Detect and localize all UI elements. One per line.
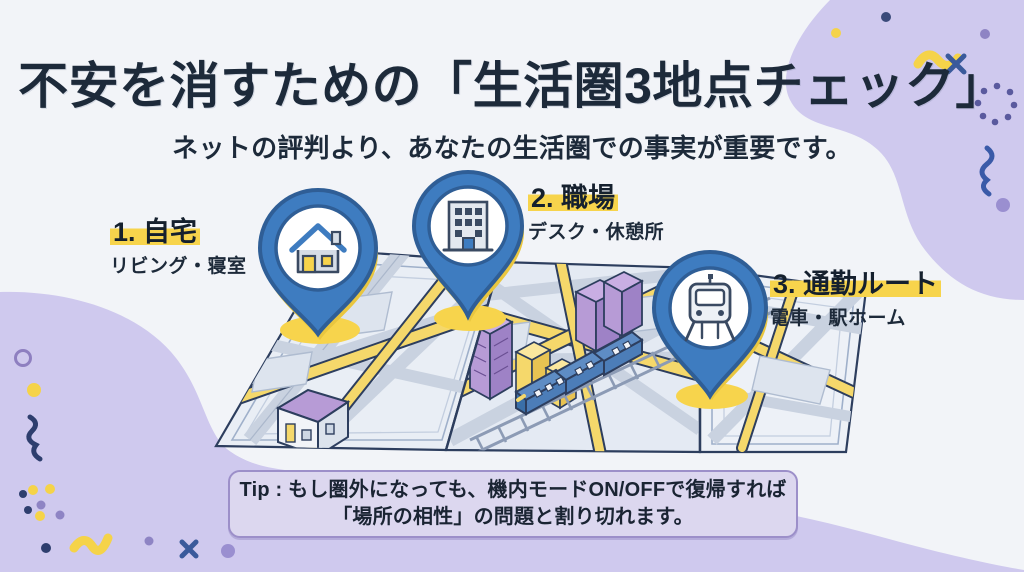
map-pin-commute[interactable] xyxy=(654,252,768,409)
marker-label-commute: 3. 通勤ルート 電車・駅ホーム xyxy=(770,270,941,330)
slide-canvas: 不安を消すための「生活圏3地点チェック」 ネットの評判より、あなたの生活圏での事… xyxy=(0,0,1024,572)
tip-line-2: 「場所の相性」の問題と割り切れます。 xyxy=(332,504,694,531)
tip-line-1: Tip : もし圏外になっても、機内モードON/OFFで復帰すれば xyxy=(240,477,787,504)
office-building-icon xyxy=(444,202,492,250)
pin-disc xyxy=(276,206,360,290)
marker-heading: 3. 通勤ルート xyxy=(770,270,941,298)
marker-detail: デスク・休憩所 xyxy=(528,217,664,244)
marker-heading: 1. 自宅 xyxy=(110,218,200,246)
marker-detail: リビング・寝室 xyxy=(110,251,247,278)
page-subtitle: ネットの評判より、あなたの生活圏での事実が重要です。 xyxy=(0,128,1024,165)
map-pin-home[interactable] xyxy=(260,190,378,344)
page-title: 不安を消すための「生活圏3地点チェック」 xyxy=(0,46,1024,118)
tip-callout-box: Tip : もし圏外になっても、機内モードON/OFFで復帰すれば 「場所の相性… xyxy=(228,470,798,538)
marker-heading: 2. 職場 xyxy=(528,184,618,212)
marker-label-home: 1. 自宅 リビング・寝室 xyxy=(110,218,247,278)
marker-detail: 電車・駅ホーム xyxy=(770,303,941,330)
map-pin-office[interactable] xyxy=(414,172,524,331)
marker-label-office: 2. 職場 デスク・休憩所 xyxy=(528,184,664,244)
